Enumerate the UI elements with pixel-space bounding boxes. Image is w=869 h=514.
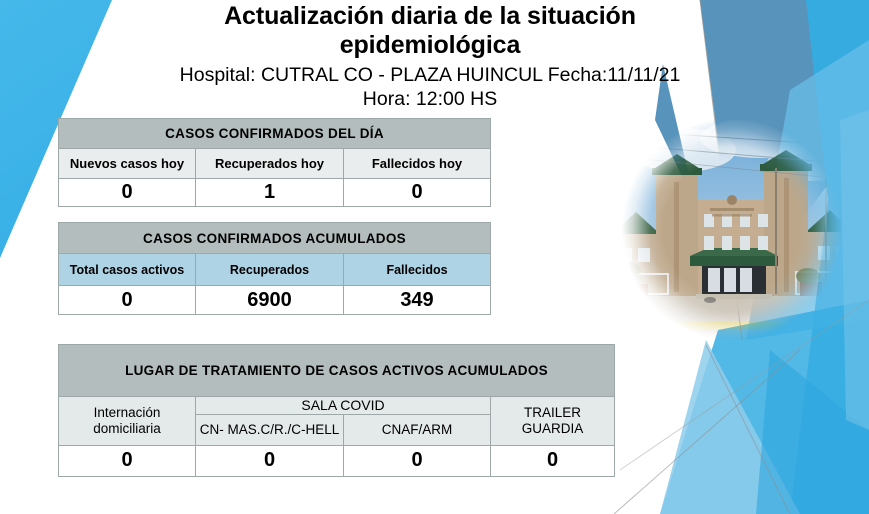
table2-col-1: Recuperados (196, 254, 344, 286)
page-title-line1: Actualización diaria de la situación (150, 2, 710, 31)
table-row-groups: Internación domiciliaria SALA COVID TRAI… (59, 397, 615, 415)
slide-canvas: Actualización diaria de la situación epi… (0, 0, 869, 514)
guide-line-2 (614, 350, 800, 514)
table-row-header: CASOS CONFIRMADOS ACUMULADOS (59, 223, 491, 254)
table3-value-1: 0 (196, 445, 344, 476)
slide-header: Actualización diaria de la situación epi… (150, 2, 710, 112)
table1-value-1: 1 (196, 179, 344, 207)
table3-title: LUGAR DE TRATAMIENTO DE CASOS ACTIVOS AC… (59, 345, 615, 397)
table2-col-0: Total casos activos (59, 254, 196, 286)
table-casos-confirmados-dia: CASOS CONFIRMADOS DEL DÍA Nuevos casos h… (58, 118, 491, 207)
page-title: Actualización diaria de la situación epi… (150, 2, 710, 60)
table1-col-2: Fallecidos hoy (344, 149, 491, 179)
table-row-columns: Total casos activos Recuperados Fallecid… (59, 254, 491, 286)
table1-value-0: 0 (59, 179, 196, 207)
guide-line-3 (706, 345, 790, 514)
table1-col-1: Recuperados hoy (196, 149, 344, 179)
table-row: 0 0 0 0 (59, 445, 615, 476)
table-row: 0 6900 349 (59, 286, 491, 315)
table2-title: CASOS CONFIRMADOS ACUMULADOS (59, 223, 491, 254)
table3-group-domiciliaria: Internación domiciliaria (59, 397, 196, 446)
table-row: 0 1 0 (59, 179, 491, 207)
table-casos-confirmados-acumulados: CASOS CONFIRMADOS ACUMULADOS Total casos… (58, 222, 491, 315)
page-subtitle-line1: Hospital: CUTRAL CO - PLAZA HUINCUL Fech… (150, 64, 710, 88)
table3-value-3: 0 (491, 445, 615, 476)
page-subtitle-line2: Hora: 12:00 HS (150, 88, 710, 112)
table2-col-2: Fallecidos (344, 254, 491, 286)
table-row-header: CASOS CONFIRMADOS DEL DÍA (59, 119, 491, 149)
table1-title: CASOS CONFIRMADOS DEL DÍA (59, 119, 491, 149)
table-row-header: LUGAR DE TRATAMIENTO DE CASOS ACTIVOS AC… (59, 345, 615, 397)
table3-group-sala-covid: SALA COVID (196, 397, 491, 415)
table3-subcol-1: CNAF/ARM (344, 414, 491, 445)
table3-value-0: 0 (59, 445, 196, 476)
lower-overlap-triangle (756, 350, 869, 514)
page-title-line2: epidemiológica (150, 31, 710, 60)
hospital-photo-illustration (612, 108, 852, 350)
page-subtitle: Hospital: CUTRAL CO - PLAZA HUINCUL Fech… (150, 64, 710, 112)
table2-value-1: 6900 (196, 286, 344, 315)
hospital-photo (612, 108, 852, 350)
table3-group-trailer-guardia: TRAILER GUARDIA (491, 397, 615, 446)
lower-soft-triangle (660, 340, 800, 514)
table2-value-2: 349 (344, 286, 491, 315)
table2-value-0: 0 (59, 286, 196, 315)
table-lugar-tratamiento: LUGAR DE TRATAMIENTO DE CASOS ACTIVOS AC… (58, 344, 615, 477)
table3-value-2: 0 (344, 445, 491, 476)
table3-subcol-0: CN- MAS.C/R./C-HELL (196, 414, 344, 445)
table1-col-0: Nuevos casos hoy (59, 149, 196, 179)
table-row-columns: Nuevos casos hoy Recuperados hoy Falleci… (59, 149, 491, 179)
table1-value-2: 0 (344, 179, 491, 207)
